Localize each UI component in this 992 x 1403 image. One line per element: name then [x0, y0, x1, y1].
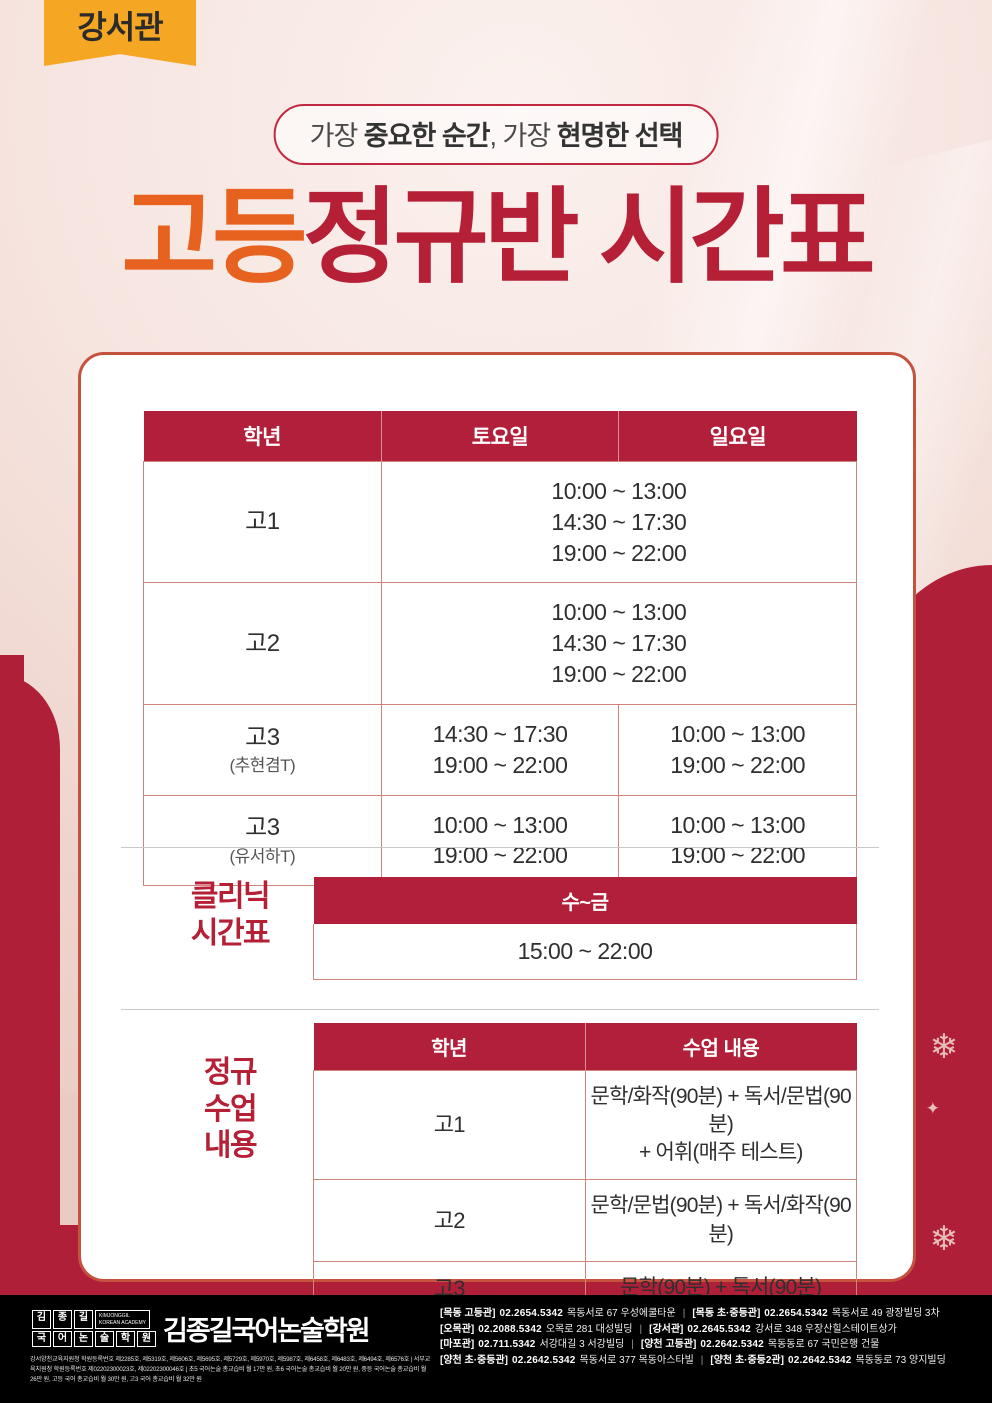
logo-mark-row-2: 국 어 논 술 학 원 — [32, 1331, 156, 1347]
schedule-sunday-cell: 10:00 ~ 13:0019:00 ~ 22:00 — [619, 704, 857, 795]
branch-address: 목동동로 73 양지빌딩 — [856, 1355, 946, 1368]
branch-phone: 02.2645.5342 — [687, 1324, 751, 1337]
page-title: 고등정규반 시간표 — [0, 186, 992, 290]
grade-label: 고3 — [245, 814, 279, 841]
branch-name: [오목관] — [440, 1324, 474, 1337]
grade-label: 고1 — [245, 508, 279, 535]
table-row: 고1 10:00 ~ 13:0014:30 ~ 17:3019:00 ~ 22:… — [144, 462, 857, 583]
curriculum-grade-cell: 고2 — [314, 1180, 586, 1261]
logo-cell: 어 — [53, 1331, 72, 1347]
list-item: [강서관] 02.2645.5342 강서로 348 우장산힐스테이트상가 — [649, 1324, 897, 1337]
branch-separator: | — [633, 1324, 650, 1337]
schedule-saturday-cell: 10:00 ~ 13:0019:00 ~ 22:00 — [381, 795, 619, 886]
logo-cell: 원 — [137, 1331, 156, 1347]
clinic-header-row: 수~금 — [314, 877, 857, 924]
branch-phone: 02.2654.5342 — [764, 1308, 828, 1321]
schedule-saturday-cell: 14:30 ~ 17:3019:00 ~ 22:00 — [381, 704, 619, 795]
schedule-sunday-cell: 10:00 ~ 13:0019:00 ~ 22:00 — [619, 795, 857, 886]
branch-contact-list: [목동 고등관] 02.2654.5342 목동서로 67 우성에쿨타운 | [… — [440, 1308, 984, 1367]
curriculum-section-label: 정규수업내용 — [155, 1055, 305, 1165]
registration-fineprint: 강서양천교육지원청 학원등록번호 제2285호, 제5319호, 제5606호,… — [30, 1355, 434, 1385]
logo-cell: 종 — [53, 1310, 72, 1329]
branch-row: [양천 초·중등관] 02.2642.5342 목동서로 377 목동아스타빌 … — [440, 1355, 984, 1368]
logo-cell: 논 — [74, 1331, 93, 1347]
branch-phone: 02.2642.5342 — [512, 1355, 576, 1368]
tagline-part-1: 가장 — [310, 121, 364, 151]
table-row: 고2 문학/문법(90분) + 독서/화작(90분) — [314, 1180, 857, 1261]
tagline-bold-2: 현명한 선택 — [557, 121, 683, 151]
curriculum-grade-cell: 고1 — [314, 1071, 586, 1180]
tagline-bold-1: 중요한 순간 — [364, 121, 490, 151]
list-item: [목동 초·중등관] 02.2654.5342 목동서로 49 광장빌딩 3차 — [692, 1308, 939, 1321]
schedule-table: 학년 토요일 일요일 고1 10:00 ~ 13:0014:30 ~ 17:30… — [143, 411, 857, 886]
curriculum-header-row: 학년 수업 내용 — [314, 1023, 857, 1071]
footer-bar: 김 종 길 KIMJONGGIL KOREAN ACADEMY 국 어 논 술 … — [0, 1295, 992, 1403]
branch-name: [양천 초·중등관] — [440, 1355, 508, 1368]
academy-name: 김종길국어논술학원 — [163, 1309, 369, 1348]
curriculum-header-grade: 학년 — [314, 1023, 586, 1071]
branch-ribbon-label: 강서관 — [77, 0, 162, 43]
title-main: 정규반 시간표 — [303, 180, 871, 296]
section-divider — [121, 847, 879, 848]
grade-teacher-label: (추현겸T) — [144, 755, 381, 778]
branch-name: [양천 고등관] — [641, 1339, 696, 1352]
logo-cell: 길 — [74, 1310, 93, 1329]
schedule-weekend-cell: 10:00 ~ 13:0014:30 ~ 17:3019:00 ~ 22:00 — [381, 583, 856, 704]
poster-stage: ❄ ✦ ✦ ❄ 강서관 가장 중요한 순간, 가장 현명한 선택 고등정규반 시… — [0, 0, 992, 1403]
logo-cell: 학 — [116, 1331, 135, 1347]
logo-english-line-2: KOREAN ACADEMY — [99, 1320, 146, 1326]
schedule-header-grade: 학년 — [144, 411, 382, 462]
schedule-grade-cell: 고3 (유서하T) — [144, 795, 382, 886]
schedule-header-sunday: 일요일 — [619, 411, 857, 462]
clinic-table: 수~금 15:00 ~ 22:00 — [313, 877, 857, 980]
curriculum-table: 학년 수업 내용 고1 문학/화작(90분) + 독서/문법(90분)+ 어휘(… — [313, 1023, 857, 1316]
logo-english-text: KIMJONGGIL KOREAN ACADEMY — [95, 1310, 150, 1329]
branch-name: [목동 초·중등관] — [692, 1308, 760, 1321]
grade-teacher-label: (유서하T) — [144, 846, 381, 869]
curriculum-content-cell: 문학/문법(90분) + 독서/화작(90분) — [585, 1180, 857, 1261]
branch-phone: 02.2642.5342 — [788, 1355, 852, 1368]
branch-row: [오목관] 02.2088.5342 오목로 281 대성빌딩 | [강서관] … — [440, 1324, 984, 1337]
table-row: 고2 10:00 ~ 13:0014:30 ~ 17:3019:00 ~ 22:… — [144, 583, 857, 704]
branch-phone: 02.2642.5342 — [700, 1339, 764, 1352]
schedule-header-saturday: 토요일 — [381, 411, 619, 462]
clinic-section-label: 클리닉시간표 — [155, 879, 305, 952]
logo-cell: 술 — [95, 1331, 114, 1347]
branch-phone: 02.2088.5342 — [478, 1324, 542, 1337]
grade-label: 고2 — [245, 630, 279, 657]
logo-mark-row-1: 김 종 길 KIMJONGGIL KOREAN ACADEMY — [32, 1310, 156, 1329]
branch-name: [강서관] — [649, 1324, 683, 1337]
branch-address: 강서로 348 우장산힐스테이트상가 — [755, 1324, 897, 1337]
logo-cell: 김 — [32, 1310, 51, 1329]
content-card: 학년 토요일 일요일 고1 10:00 ~ 13:0014:30 ~ 17:30… — [78, 352, 916, 1282]
list-item: [양천 초·중등2관] 02.2642.5342 목동동로 73 양지빌딩 — [710, 1355, 945, 1368]
branch-address: 목동서로 67 우성에쿨타운 — [567, 1308, 676, 1321]
section-divider — [121, 1009, 879, 1010]
branch-name: [목동 고등관] — [440, 1308, 495, 1321]
logo-cell: 국 — [32, 1331, 51, 1347]
schedule-grade-cell: 고2 — [144, 583, 382, 704]
branch-name: [양천 초·중등2관] — [710, 1355, 784, 1368]
branch-address: 목동서로 377 목동아스타빌 — [580, 1355, 694, 1368]
grade-label: 고3 — [245, 724, 279, 751]
snowflake-icon: ❄ — [930, 1030, 959, 1064]
list-item: [오목관] 02.2088.5342 오목로 281 대성빌딩 — [440, 1324, 633, 1337]
list-item: [마포관] 02.711.5342 서강대길 3 서강빌딩 — [440, 1339, 624, 1352]
sparkle-icon: ✦ — [926, 1100, 940, 1117]
branch-address: 오목로 281 대성빌딩 — [546, 1324, 633, 1337]
table-row: 고1 문학/화작(90분) + 독서/문법(90분)+ 어휘(매주 테스트) — [314, 1071, 857, 1180]
clinic-time-cell: 15:00 ~ 22:00 — [314, 924, 857, 980]
schedule-header-row: 학년 토요일 일요일 — [144, 411, 857, 462]
schedule-grade-cell: 고3 (추현겸T) — [144, 704, 382, 795]
list-item: [목동 고등관] 02.2654.5342 목동서로 67 우성에쿨타운 — [440, 1308, 676, 1321]
table-row: 고3 (추현겸T) 14:30 ~ 17:3019:00 ~ 22:00 10:… — [144, 704, 857, 795]
clinic-header-days: 수~금 — [314, 877, 857, 924]
list-item: [양천 고등관] 02.2642.5342 목동동로 67 국민은행 건물 — [641, 1339, 880, 1352]
branch-phone: 02.2654.5342 — [499, 1308, 563, 1321]
schedule-grade-cell: 고1 — [144, 462, 382, 583]
tagline-pill: 가장 중요한 순간, 가장 현명한 선택 — [274, 104, 719, 165]
branch-separator: | — [624, 1339, 641, 1352]
branch-address: 목동동로 67 국민은행 건물 — [768, 1339, 879, 1352]
curriculum-content-cell: 문학/화작(90분) + 독서/문법(90분)+ 어휘(매주 테스트) — [585, 1071, 857, 1180]
snowflake-icon: ❄ — [930, 1222, 959, 1256]
curriculum-header-content: 수업 내용 — [585, 1023, 857, 1071]
table-row: 15:00 ~ 22:00 — [314, 924, 857, 980]
schedule-weekend-cell: 10:00 ~ 13:0014:30 ~ 17:3019:00 ~ 22:00 — [381, 462, 856, 583]
academy-logo: 김 종 길 KIMJONGGIL KOREAN ACADEMY 국 어 논 술 … — [32, 1309, 369, 1348]
branch-name: [마포관] — [440, 1339, 474, 1352]
list-item: [양천 초·중등관] 02.2642.5342 목동서로 377 목동아스타빌 — [440, 1355, 694, 1368]
branch-address: 서강대길 3 서강빌딩 — [540, 1339, 625, 1352]
title-org: 고등 — [121, 180, 302, 296]
red-left-fill — [0, 655, 24, 1295]
logo-mark: 김 종 길 KIMJONGGIL KOREAN ACADEMY 국 어 논 술 … — [32, 1310, 156, 1347]
branch-separator: | — [676, 1308, 693, 1321]
branch-separator: | — [694, 1355, 711, 1368]
branch-phone: 02.711.5342 — [478, 1339, 535, 1352]
branch-row: [마포관] 02.711.5342 서강대길 3 서강빌딩 | [양천 고등관]… — [440, 1339, 984, 1352]
table-row: 고3 (유서하T) 10:00 ~ 13:0019:00 ~ 22:00 10:… — [144, 795, 857, 886]
branch-row: [목동 고등관] 02.2654.5342 목동서로 67 우성에쿨타운 | [… — [440, 1308, 984, 1321]
branch-address: 목동서로 49 광장빌딩 3차 — [832, 1308, 940, 1321]
tagline-part-2: , 가장 — [490, 121, 557, 151]
